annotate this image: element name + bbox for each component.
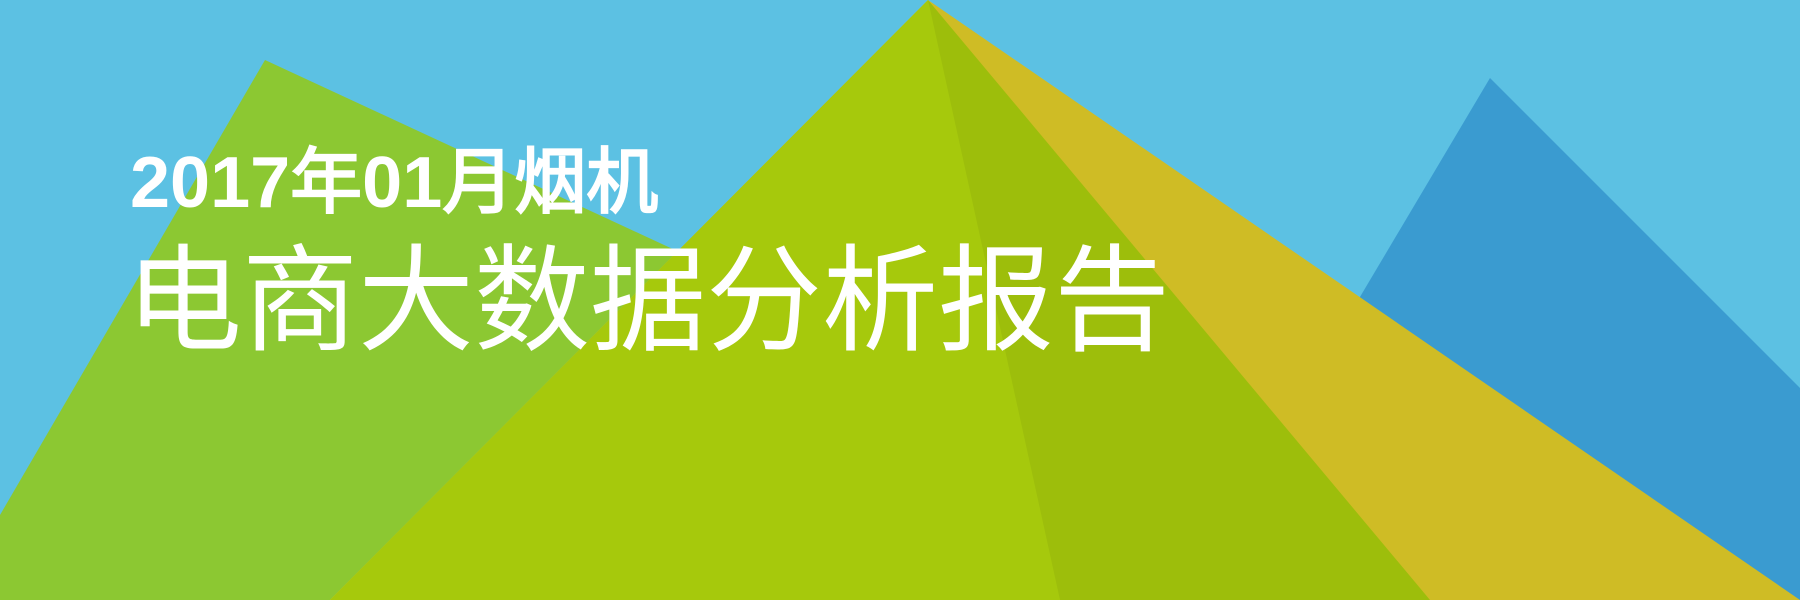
report-cover-banner: 2017年01月烟机 电商大数据分析报告 [0, 0, 1800, 600]
decorative-mountain-backdrop [0, 0, 1800, 600]
